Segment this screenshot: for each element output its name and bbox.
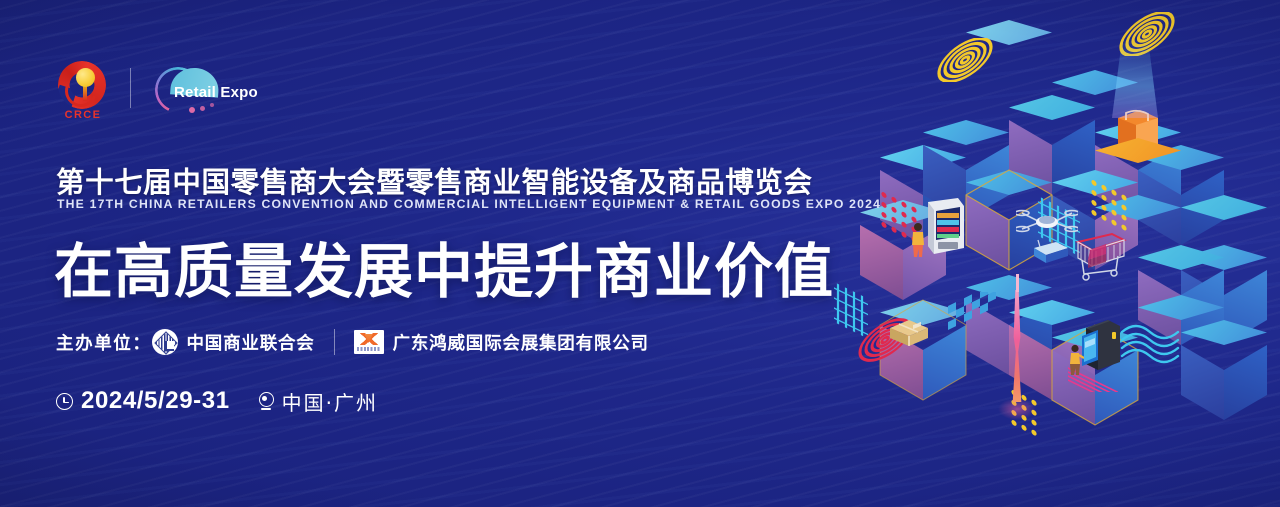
expo-dot-icon [210,103,214,107]
expo-dot-icon [200,106,205,111]
event-location-group: 中国·广州 [258,387,378,416]
shopper-person-icon [908,222,928,258]
banner-content: CRCE Retail Expo 第十七届中国零售商大会暨零售商业智能设备及商品… [52,0,862,507]
event-title-english: THE 17TH CHINA RETAILERS CONVENTION AND … [57,197,881,211]
event-title-chinese: 第十七届中国零售商大会暨零售商业智能设备及商品博览会 [56,160,813,201]
hongwei-logo-icon [354,330,384,354]
expo-dot-icon [189,107,195,113]
crce-logo: CRCE [52,59,114,123]
checker-pattern [948,292,1008,334]
organizer-name: 中国商业联合会 [187,330,315,355]
clock-icon [56,393,73,410]
expo-wordmark: Retail Expo [174,84,258,101]
wave-lines-panel [1120,318,1186,368]
event-date: 2024/5/29-31 [81,387,230,415]
canton-tower-icon [1002,290,1032,420]
isometric-illustration [820,0,1280,507]
organizers-row: 主办单位： 中国商业联合会 广东鸿威国际会展集团有限公司 [56,324,649,360]
event-meta-row: 2024/5/29-31 中国·广州 [56,384,378,418]
crce-abbr: CRCE [52,109,114,121]
logo-divider [130,68,131,108]
event-date-group: 2024/5/29-31 [56,387,230,415]
organizer-hongwei: 广东鸿威国际会展集团有限公司 [354,330,649,355]
map-pin-icon [258,392,274,410]
shopping-cart-icon [1068,230,1132,282]
organizer-name: 广东鸿威国际会展集团有限公司 [393,330,649,355]
parcel-box-icon [886,316,932,350]
dot-grid-panel [1088,178,1134,238]
ccf-diamond-logo-icon [152,329,178,355]
organizer-separator [334,329,335,355]
organizers-label: 主办单位： [56,330,152,355]
iso-cube [1181,320,1267,420]
organizer-ccf: 中国商业联合会 [152,329,315,355]
retail-expo-logo: Retail Expo [149,62,261,120]
fingerprint-yellow-icon [928,38,1002,82]
headline-slogan: 在高质量发展中提升商业价值 [54,224,834,309]
crce-sphere-icon [76,68,95,87]
event-location: 中国·广州 [282,387,378,416]
kiosk-user-person-icon [1066,344,1084,376]
drone-package-icon [1026,238,1072,266]
promo-banner: CRCE Retail Expo 第十七届中国零售商大会暨零售商业智能设备及商品… [0,0,1280,507]
logo-row: CRCE Retail Expo [52,58,261,124]
iso-cube [1138,145,1224,245]
